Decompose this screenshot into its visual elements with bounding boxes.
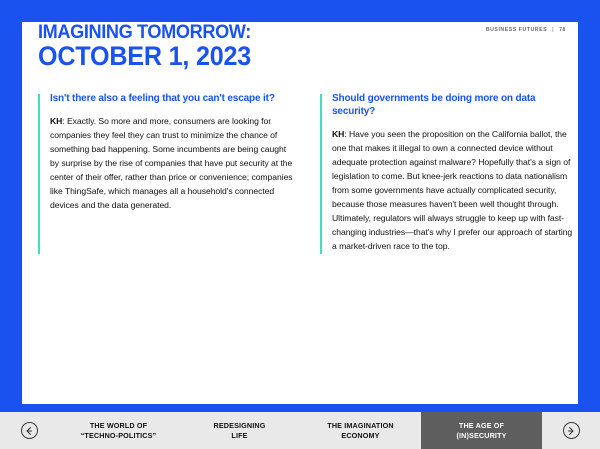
page-number: 78 [559,27,566,33]
answer-body-left: Exactly. So more and more, consumers are… [50,116,293,210]
accent-rule-left [38,94,40,254]
section-tab-label: THE IMAGINATIONECONOMY [327,421,393,440]
qa-columns: Isn't there also a feeling that you can'… [22,92,578,254]
answer-text-left: KH: Exactly. So more and more, consumers… [50,115,296,212]
question-heading-left: Isn't there also a feeling that you can'… [50,92,296,105]
section-tab-line-2: “TECHNO-POLITICS” [81,431,157,440]
section-tab-line-1: REDESIGNING [214,421,266,430]
qa-column-right: Should governments be doing more on data… [320,92,578,254]
section-tab-line-1: THE WORLD OF [90,421,147,430]
publication-name: BUSINESS FUTURES [486,27,547,33]
page-header: IMAGINING TOMORROW: OCTOBER 1, 2023 BUSI… [38,22,566,84]
answer-text-right: KH: Have you seen the proposition on the… [332,128,578,253]
next-section-button[interactable] [542,412,600,449]
section-tab-line-2: ECONOMY [341,431,379,440]
arrow-right-circle-icon [563,422,580,439]
speaker-label-right: KH [332,129,344,139]
arrow-left-circle-icon [21,422,38,439]
content-card: IMAGINING TOMORROW: OCTOBER 1, 2023 BUSI… [22,22,578,404]
section-tab-line-1: THE AGE OF [459,421,504,430]
meta-separator: | [552,27,554,33]
previous-section-button[interactable] [0,412,58,449]
accent-rule-right [320,94,322,254]
answer-body-right: Have you seen the proposition on the Cal… [332,129,572,250]
slide-root: IMAGINING TOMORROW: OCTOBER 1, 2023 BUSI… [0,0,600,449]
section-tab-line-1: THE IMAGINATION [327,421,393,430]
section-tab-techno-politics[interactable]: THE WORLD OF“TECHNO-POLITICS” [58,412,179,449]
section-tab-label: REDESIGNINGLIFE [214,421,266,440]
speaker-initials-left: KH [50,116,62,126]
speaker-initials-right: KH [332,129,344,139]
question-heading-right: Should governments be doing more on data… [332,92,578,118]
section-tab-label: THE AGE OF(IN)SECURITY [456,421,506,440]
section-tabs: THE WORLD OF“TECHNO-POLITICS” REDESIGNIN… [58,412,542,449]
section-tab-redesigning-life[interactable]: REDESIGNINGLIFE [179,412,300,449]
section-tab-imagination-economy[interactable]: THE IMAGINATIONECONOMY [300,412,421,449]
bottom-navigation: THE WORLD OF“TECHNO-POLITICS” REDESIGNIN… [0,412,600,449]
qa-column-left: Isn't there also a feeling that you can'… [38,92,296,254]
page-title: IMAGINING TOMORROW: OCTOBER 1, 2023 [38,23,267,70]
section-tab-line-2: LIFE [231,431,247,440]
section-tab-line-2: (IN)SECURITY [456,431,506,440]
section-tab-age-of-insecurity[interactable]: THE AGE OF(IN)SECURITY [421,412,542,449]
section-tab-label: THE WORLD OF“TECHNO-POLITICS” [81,421,157,440]
speaker-label-left: KH [50,116,62,126]
page-meta: BUSINESS FUTURES | 78 [486,27,566,33]
page-title-line-2: OCTOBER 1, 2023 [38,43,251,71]
